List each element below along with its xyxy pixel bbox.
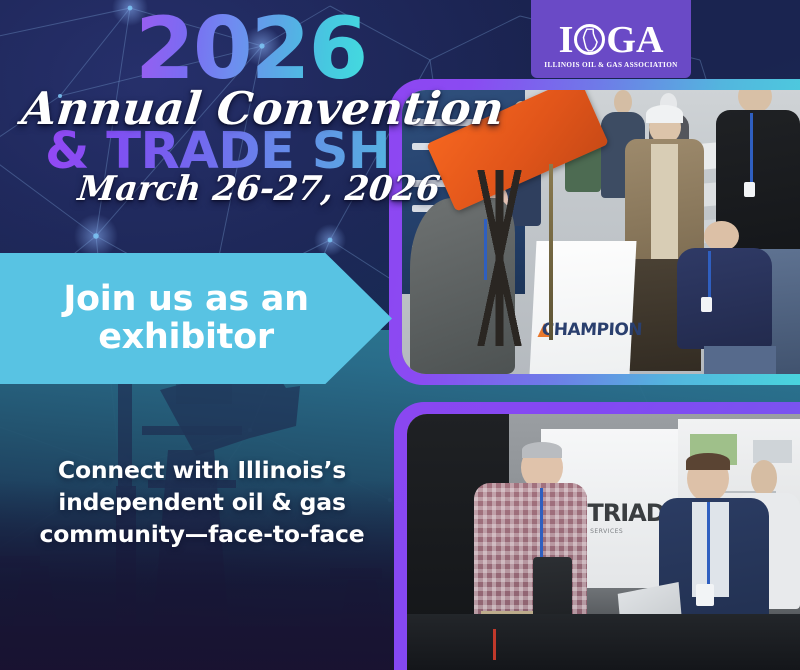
ioga-letter-i: I xyxy=(559,22,574,58)
annual-convention-heading: Annual Convention xyxy=(20,86,506,131)
ioga-wordmark: I GA xyxy=(559,22,664,58)
title-block: 2026 & TRADE SHOW Annual Convention Marc… xyxy=(0,0,470,225)
event-year: 2026 xyxy=(135,6,366,92)
pumpjack-model-tower xyxy=(474,170,526,346)
promotional-poster: Solving real-world problems xyxy=(0,0,800,670)
ioga-logo[interactable]: I GA ILLINOIS OIL & GAS ASSOCIATION xyxy=(531,0,691,78)
display-table xyxy=(407,614,800,670)
photo-attendees-talking: TRIAD SERVICES xyxy=(407,414,800,670)
photo-frame-bottom: TRIAD SERVICES xyxy=(394,402,800,670)
ioga-full-name: ILLINOIS OIL & GAS ASSOCIATION xyxy=(544,61,677,69)
ioga-letters-ga: GA xyxy=(606,22,663,58)
event-date: March 26-27, 2026 xyxy=(76,172,441,206)
poster-tagline: Connect with Illinois’s independent oil … xyxy=(16,455,388,551)
exhibitor-call-to-action-banner[interactable]: Join us as an exhibitor xyxy=(0,253,392,384)
exhibitor-sign-champion: CHAMPION xyxy=(530,241,636,374)
illinois-state-outline-icon xyxy=(574,24,605,55)
exhibitor-banner-label: Join us as an exhibitor xyxy=(21,281,351,356)
